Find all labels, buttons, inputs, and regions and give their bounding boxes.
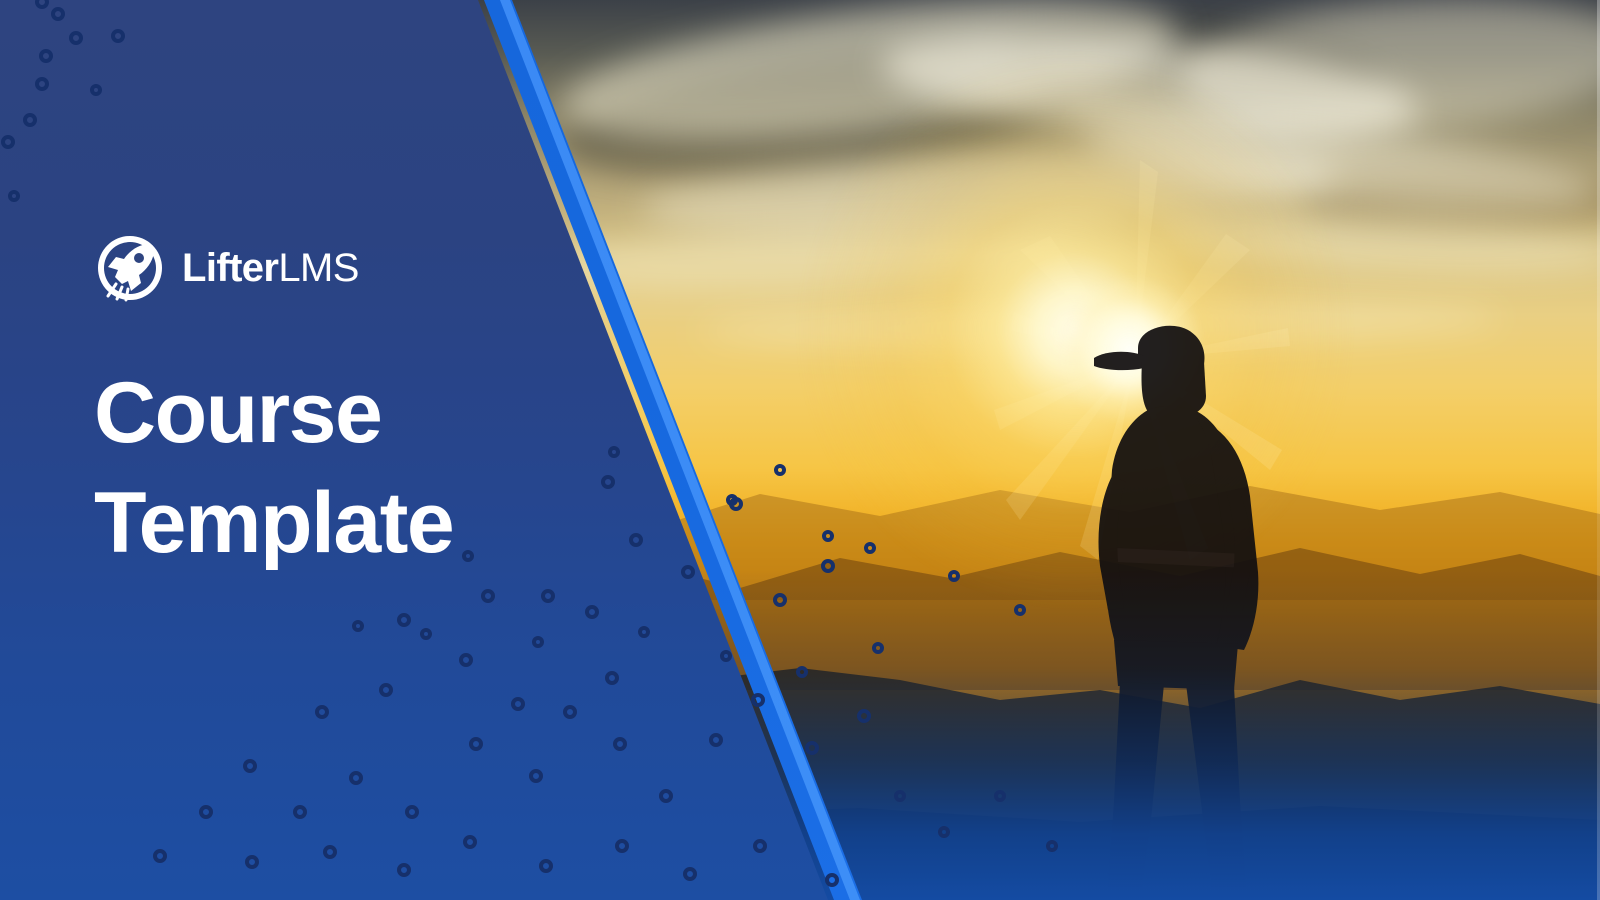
page-title-line-2: Template: [94, 468, 524, 578]
brand-name-bold: Lifter: [182, 246, 278, 290]
rocket-in-circle-icon: [94, 232, 166, 304]
brand-lockup: LifterLMS: [94, 232, 524, 304]
hiker-silhouette: [1020, 310, 1320, 890]
banner-content: LifterLMS Course Template: [94, 232, 524, 578]
page-title-line-1: Course: [94, 365, 381, 461]
brand-name-light: LMS: [278, 246, 358, 290]
course-template-banner: LifterLMS Course Template: [0, 0, 1600, 900]
brand-wordmark: LifterLMS: [182, 246, 359, 291]
page-title: Course Template: [94, 358, 524, 578]
